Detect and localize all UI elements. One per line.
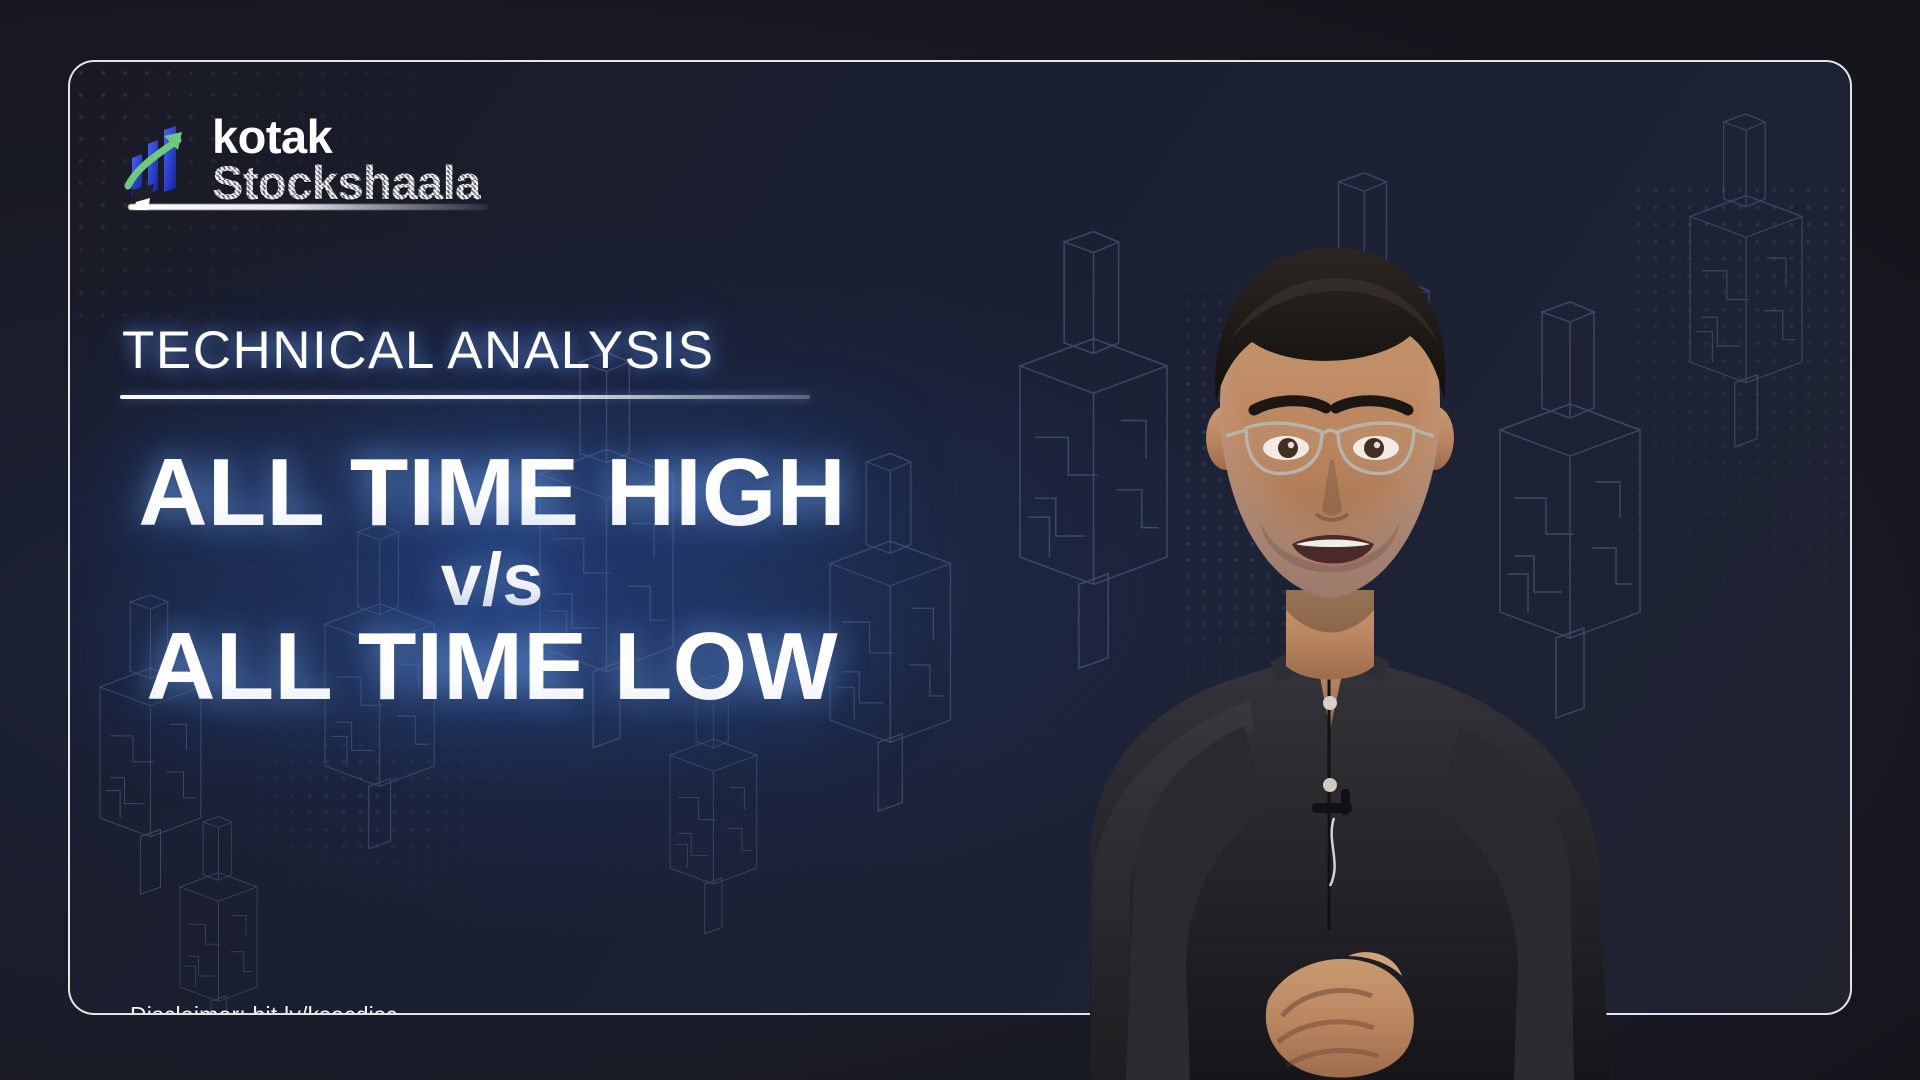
headline-separator: v/s [112,543,872,617]
brand-wordmark: kotak Stockshaala [212,114,481,206]
logo-underline-stroke [128,204,488,210]
halftone-dots-right-two-icon [1630,182,1852,802]
disclaimer-text: Disclaimer: bit.ly/ksecdisc [130,1002,397,1015]
halftone-dots-center-icon [250,702,540,932]
headline-line-1: ALL TIME HIGH [112,445,872,541]
bar-chart-arrow-pencil-icon [120,110,198,210]
slide-canvas: kotak Stockshaala TECHNICAL ANALYSIS ALL… [0,0,1920,1080]
title-divider [120,395,810,399]
brand-name-stockshaala: Stockshaala [212,160,481,206]
brand-name-kotak: kotak [212,114,481,160]
content-card: kotak Stockshaala TECHNICAL ANALYSIS ALL… [68,60,1852,1015]
halftone-dots-right-one-icon [1180,232,1370,712]
eyebrow-title: TECHNICAL ANALYSIS [112,320,872,381]
headline-line-2: ALL TIME LOW [112,619,872,715]
headline-block: TECHNICAL ANALYSIS ALL TIME HIGH v/s ALL… [112,320,872,715]
brand-logo: kotak Stockshaala [120,110,481,210]
